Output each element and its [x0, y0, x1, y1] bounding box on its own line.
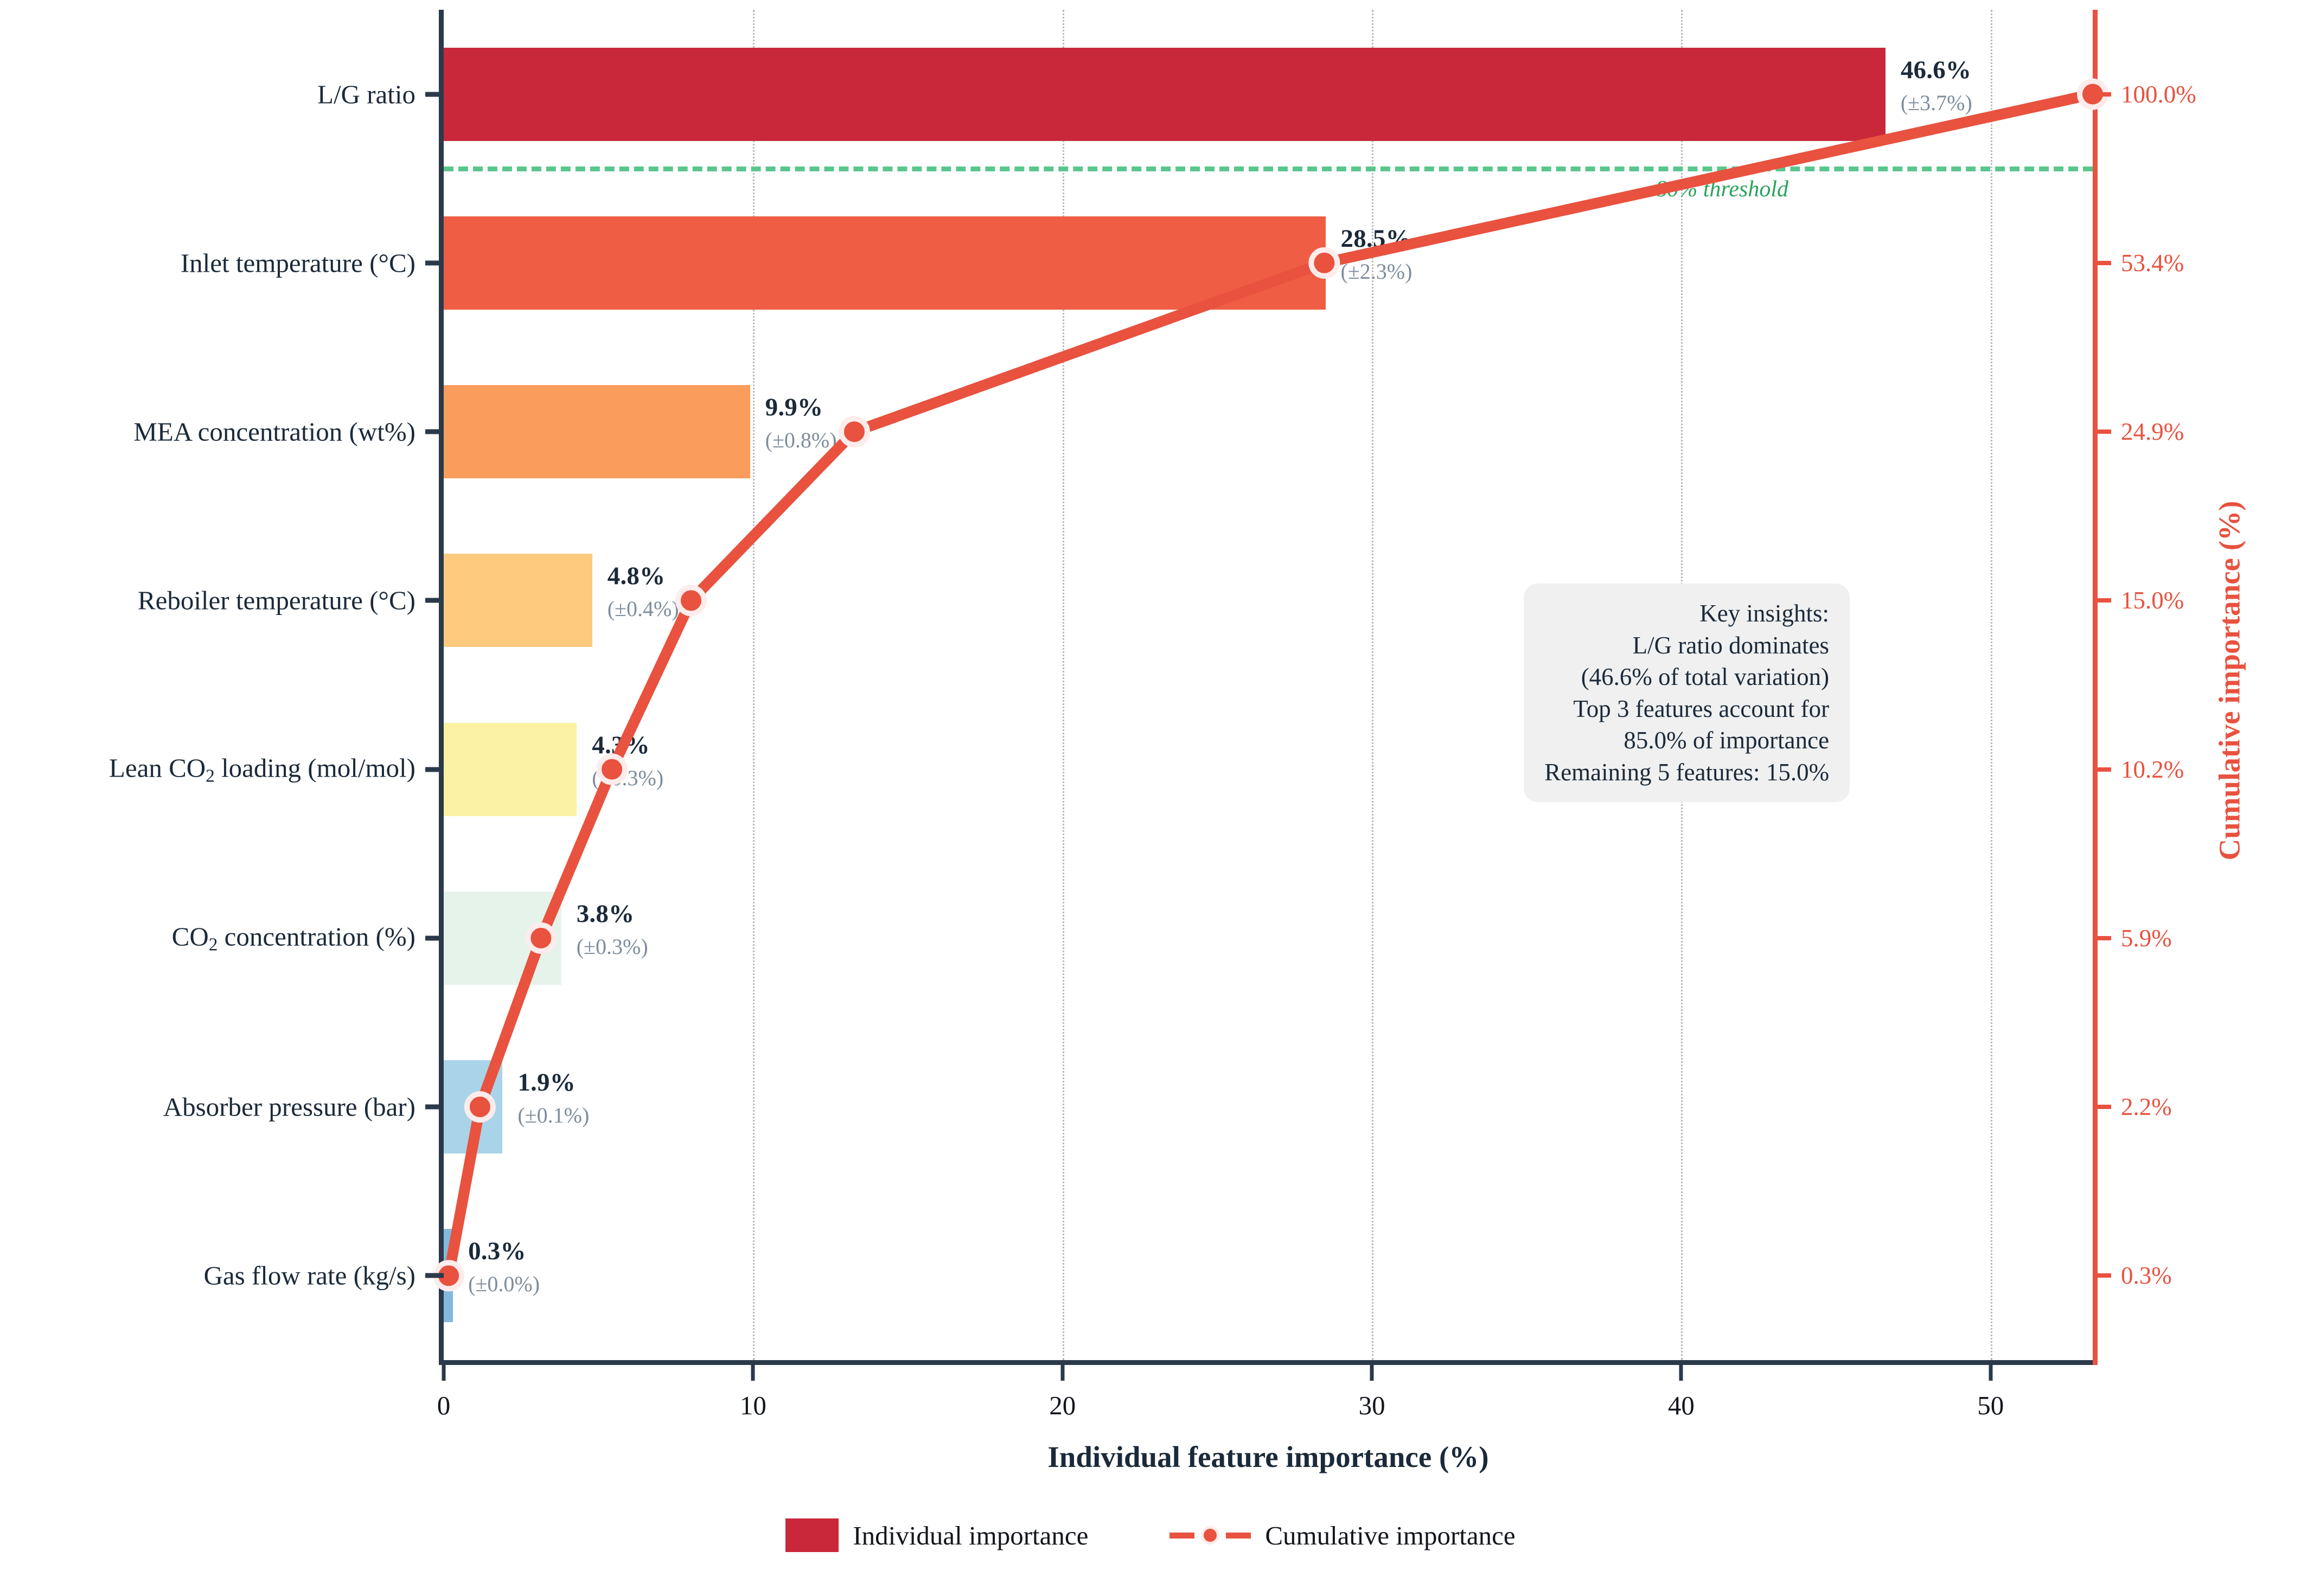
y-tick-label-7: Gas flow rate (kg/s) [203, 1260, 416, 1291]
x-tick-label-20: 20 [1049, 1390, 1076, 1421]
x-tickmark-40 [1679, 1360, 1683, 1381]
y2-tick-label-5: 5.9% [2121, 924, 2172, 952]
x-tick-label-10: 10 [740, 1390, 766, 1421]
insight-line-1: L/G ratio dominates [1544, 630, 1829, 662]
legend-label-cumulative: Cumulative importance [1265, 1520, 1515, 1551]
y-tickmark-4 [425, 767, 444, 772]
insight-line-5: Remaining 5 features: 15.0% [1544, 757, 1829, 789]
y-tick-label-2: MEA concentration (wt%) [133, 416, 416, 447]
cumulative-marker-2[interactable] [841, 419, 867, 445]
y2-tick-label-1: 53.4% [2121, 249, 2184, 277]
x-tick-label-0: 0 [437, 1390, 451, 1421]
y2-tickmark-0 [2093, 92, 2111, 97]
insight-line-2: (46.6% of total variation) [1544, 661, 1829, 693]
y-tickmark-0 [425, 92, 444, 97]
insight-line-3: Top 3 features account for [1544, 693, 1829, 725]
y2-tickmark-3 [2093, 598, 2111, 602]
cumulative-marker-6[interactable] [467, 1094, 493, 1120]
chart-legend: Individual importance Cumulative importa… [0, 1518, 2301, 1552]
y2-tickmark-5 [2093, 936, 2111, 940]
x-tickmark-20 [1060, 1360, 1064, 1381]
cumulative-marker-5[interactable] [528, 925, 554, 951]
y-tick-label-6: Absorber pressure (bar) [163, 1092, 416, 1123]
legend-swatch-individual-icon [785, 1518, 839, 1552]
y2-tick-label-6: 2.2% [2121, 1093, 2172, 1121]
x-tickmark-0 [442, 1360, 446, 1381]
cumulative-marker-4[interactable] [599, 757, 625, 783]
legend-label-individual: Individual importance [853, 1520, 1088, 1551]
y2-tickmark-4 [2093, 767, 2111, 772]
y-tick-label-5: CO2 concentration (%) [172, 921, 416, 955]
legend-dashed-line-icon [1169, 1518, 1251, 1552]
y-tickmark-6 [425, 1105, 444, 1110]
insight-line-0: Key insights: [1544, 598, 1829, 630]
y2-tick-label-2: 24.9% [2121, 418, 2184, 446]
y2-tickmark-1 [2093, 261, 2111, 265]
y2-tickmark-2 [2093, 430, 2111, 434]
x-tick-label-40: 40 [1668, 1390, 1695, 1421]
y-tick-label-4: Lean CO2 loading (mol/mol) [109, 752, 416, 786]
y2-tick-label-7: 0.3% [2121, 1261, 2172, 1290]
y2-tick-label-0: 100.0% [2121, 80, 2196, 108]
legend-item-individual[interactable]: Individual importance [785, 1518, 1088, 1552]
y2-tick-label-3: 15.0% [2121, 586, 2184, 614]
y2-tickmark-6 [2093, 1105, 2111, 1109]
x-tick-label-50: 50 [1977, 1390, 2004, 1421]
insight-line-4: 85.0% of importance [1544, 725, 1829, 757]
x-tick-label-30: 30 [1359, 1390, 1385, 1421]
y-tick-label-3: Reboiler temperature (°C) [138, 585, 416, 616]
plot-area: 46.6%(±3.7%)28.5%(±2.3%)9.9%(±0.8%)4.8%(… [444, 10, 2093, 1360]
y-tickmark-1 [425, 260, 444, 265]
cumulative-marker-1[interactable] [1311, 250, 1337, 276]
key-insights-box: Key insights:L/G ratio dominates(46.6% o… [1524, 584, 1850, 802]
secondary-y-axis-title: Cumulative importance (%) [2213, 501, 2247, 861]
secondary-y-axis-spine [2093, 10, 2098, 1365]
y-tickmark-7 [425, 1273, 444, 1278]
y2-tick-label-4: 10.2% [2121, 755, 2184, 784]
y-tickmark-3 [425, 598, 444, 603]
y2-tickmark-7 [2093, 1273, 2111, 1278]
x-axis-spine [439, 1360, 2098, 1365]
y-axis-spine [439, 10, 444, 1360]
x-tickmark-10 [751, 1360, 755, 1381]
x-tickmark-50 [1989, 1360, 1992, 1381]
x-tickmark-30 [1370, 1360, 1374, 1381]
x-axis-title: Individual feature importance (%) [444, 1440, 2093, 1474]
chart-canvas: 46.6%(±3.7%)28.5%(±2.3%)9.9%(±0.8%)4.8%(… [0, 0, 2301, 1596]
cumulative-marker-3[interactable] [678, 587, 704, 613]
legend-item-cumulative[interactable]: Cumulative importance [1169, 1518, 1515, 1552]
y-tick-label-0: L/G ratio [317, 79, 416, 110]
y-tickmark-2 [425, 430, 444, 434]
y-tick-label-1: Inlet temperature (°C) [181, 247, 416, 278]
y-tickmark-5 [425, 935, 444, 940]
